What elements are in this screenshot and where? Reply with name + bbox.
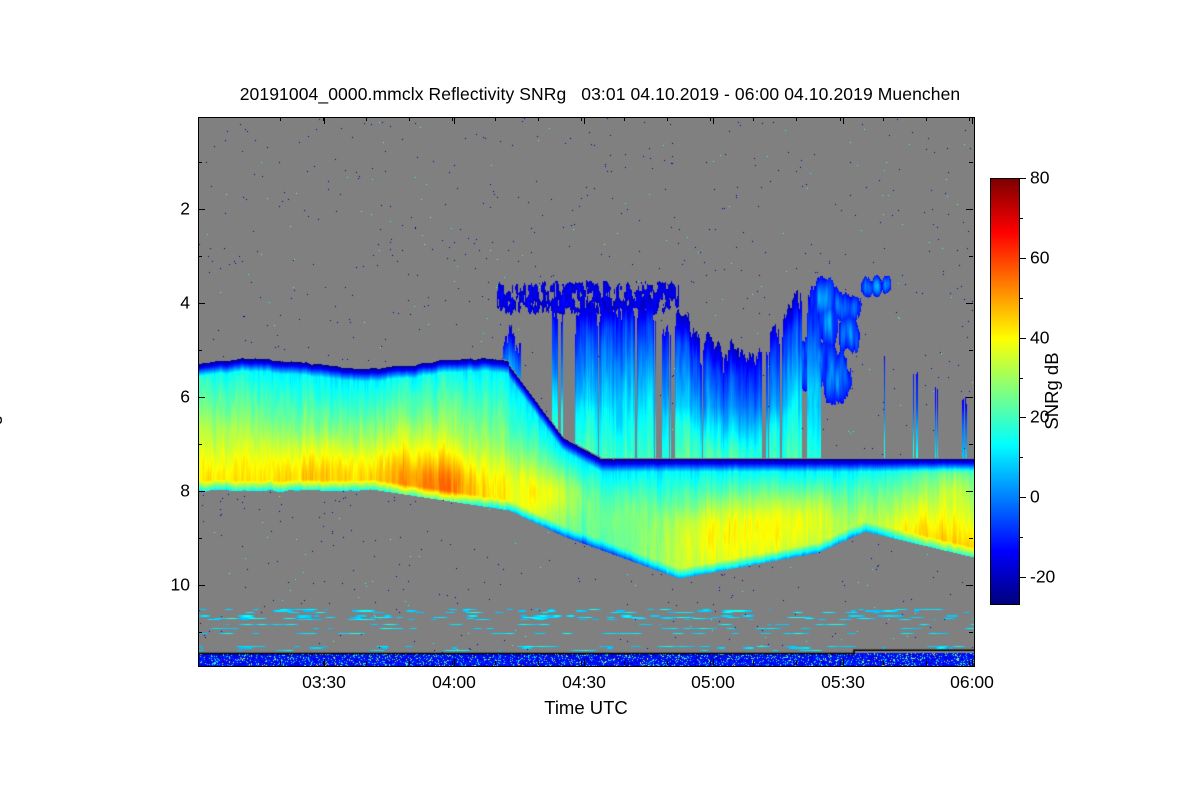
y-tick-minor-5 [198, 444, 202, 445]
x-tick-minor-10 [667, 661, 668, 665]
y-tick-major-8 [198, 303, 205, 304]
x-tick-minor-top-12 [753, 117, 754, 121]
x-tick-label-4: 05:30 [821, 672, 865, 693]
y-tick-label-4: 8 [0, 480, 190, 501]
x-tick-minor-top-7 [538, 117, 539, 121]
colorbar-tick-label-40: 40 [1030, 327, 1049, 348]
y-tick-label-8: 4 [0, 292, 190, 313]
x-tick-minor-11 [710, 661, 711, 665]
x-tick-5 [972, 659, 973, 666]
colorbar-tick-label-60: 60 [1030, 247, 1049, 268]
y-tick-minor-right-1 [969, 632, 973, 633]
y-tick-label-10: 2 [0, 198, 190, 219]
reflectivity-heatmap-canvas [199, 118, 974, 666]
x-tick-minor-top-14 [840, 117, 841, 121]
colorbar-title: SNRg dB [1041, 352, 1063, 429]
y-tick-major-6 [198, 397, 205, 398]
y-tick-minor-3 [198, 538, 202, 539]
colorbar-tick-minor-50 [1020, 298, 1023, 299]
x-tick-minor-top-10 [667, 117, 668, 121]
y-tick-minor-right-7 [969, 350, 973, 351]
x-tick-minor-top-17 [969, 117, 970, 121]
x-tick-top-2 [584, 117, 585, 124]
x-tick-label-3: 05:00 [691, 672, 735, 693]
x-tick-minor-15 [883, 661, 884, 665]
y-tick-minor-right-11 [969, 162, 973, 163]
colorbar-tick-0 [1020, 497, 1026, 498]
x-tick-minor-16 [926, 661, 927, 665]
x-tick-2 [584, 659, 585, 666]
x-tick-minor-9 [624, 661, 625, 665]
y-tick-major-right-4 [966, 491, 973, 492]
colorbar-tick-label-0: 0 [1030, 487, 1040, 508]
colorbar-tick-80 [1020, 178, 1026, 179]
y-tick-minor-right-5 [969, 444, 973, 445]
colorbar [990, 178, 1020, 605]
x-tick-3 [713, 659, 714, 666]
x-tick-minor-top-2 [323, 117, 324, 121]
reflectivity-heatmap-axes [198, 117, 975, 667]
y-tick-label-6: 6 [0, 386, 190, 407]
colorbar-tick-minor-10 [1020, 457, 1023, 458]
y-tick-minor-11 [198, 162, 202, 163]
x-tick-minor-top-15 [883, 117, 884, 121]
x-tick-minor-12 [753, 661, 754, 665]
y-tick-major-2 [198, 585, 205, 586]
x-tick-minor-5 [452, 661, 453, 665]
colorbar-tick-minor-70 [1020, 218, 1023, 219]
x-tick-minor-17 [969, 661, 970, 665]
x-tick-label-5: 06:00 [950, 672, 994, 693]
x-tick-minor-top-1 [280, 117, 281, 121]
colorbar-tick-60 [1020, 258, 1026, 259]
x-tick-top-3 [713, 117, 714, 124]
x-tick-minor-6 [495, 661, 496, 665]
y-tick-major-right-2 [966, 585, 973, 586]
colorbar-tick--20 [1020, 577, 1026, 578]
x-tick-minor-top-4 [409, 117, 410, 121]
x-tick-minor-top-13 [796, 117, 797, 121]
plot-title: 20191004_0000.mmclx Reflectivity SNRg 03… [0, 84, 1200, 105]
x-tick-top-4 [843, 117, 844, 124]
x-tick-minor-2 [323, 661, 324, 665]
x-tick-minor-top-5 [452, 117, 453, 121]
colorbar-tick-minor--10 [1020, 537, 1023, 538]
x-tick-minor-4 [409, 661, 410, 665]
x-tick-minor-7 [538, 661, 539, 665]
x-tick-minor-8 [581, 661, 582, 665]
x-tick-minor-top-6 [495, 117, 496, 121]
x-tick-label-0: 03:30 [302, 672, 346, 693]
y-axis-title: Height AGL km [0, 329, 3, 453]
x-tick-0 [324, 659, 325, 666]
x-tick-minor-top-16 [926, 117, 927, 121]
x-tick-top-1 [454, 117, 455, 124]
colorbar-tick-minor-30 [1020, 378, 1023, 379]
x-tick-minor-1 [280, 661, 281, 665]
x-tick-minor-14 [840, 661, 841, 665]
x-tick-minor-3 [366, 661, 367, 665]
x-tick-top-5 [972, 117, 973, 124]
x-tick-label-2: 04:30 [562, 672, 606, 693]
y-tick-major-4 [198, 491, 205, 492]
x-tick-label-1: 04:00 [432, 672, 476, 693]
colorbar-tick-20 [1020, 417, 1026, 418]
x-tick-top-0 [324, 117, 325, 124]
x-tick-1 [454, 659, 455, 666]
y-tick-major-right-6 [966, 397, 973, 398]
colorbar-tick-label-80: 80 [1030, 168, 1049, 189]
x-tick-minor-13 [796, 661, 797, 665]
y-tick-minor-right-3 [969, 538, 973, 539]
y-tick-minor-9 [198, 256, 202, 257]
colorbar-gradient [990, 178, 1020, 605]
x-tick-minor-top-8 [581, 117, 582, 121]
y-tick-major-10 [198, 209, 205, 210]
y-tick-label-2: 10 [0, 574, 190, 595]
y-tick-minor-right-9 [969, 256, 973, 257]
x-tick-minor-top-3 [366, 117, 367, 121]
y-tick-minor-7 [198, 350, 202, 351]
x-tick-4 [843, 659, 844, 666]
x-tick-minor-top-11 [710, 117, 711, 121]
y-tick-major-right-8 [966, 303, 973, 304]
x-tick-minor-top-9 [624, 117, 625, 121]
colorbar-tick-label--20: -20 [1030, 567, 1055, 588]
y-tick-major-right-10 [966, 209, 973, 210]
figure-root: 20191004_0000.mmclx Reflectivity SNRg 03… [0, 0, 1200, 800]
x-axis-title: Time UTC [544, 697, 628, 719]
colorbar-tick-40 [1020, 338, 1026, 339]
y-tick-minor-1 [198, 632, 202, 633]
